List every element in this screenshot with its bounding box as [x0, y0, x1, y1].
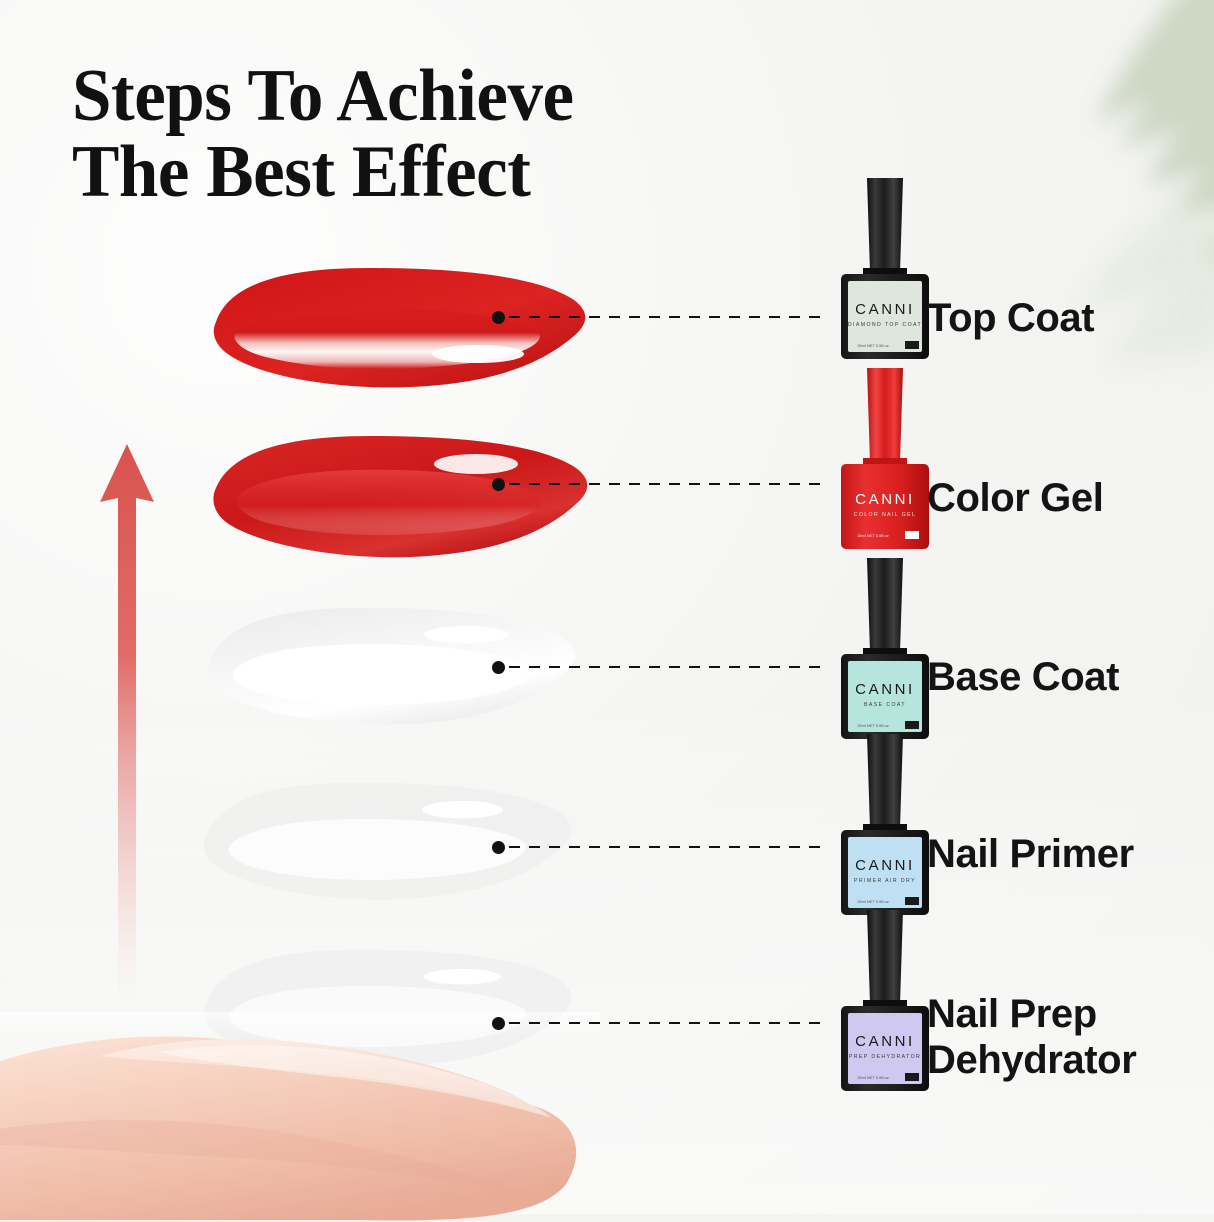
connector-nail-prep-dehydrator — [492, 1016, 822, 1030]
connector-dashed-line — [509, 846, 822, 848]
connector-dashed-line — [509, 483, 822, 485]
connector-dashed-line — [509, 666, 822, 668]
bottle-barcode-icon — [905, 897, 919, 905]
bottle-brand-text: CANNI — [855, 491, 915, 508]
bottle-base-coat[interactable]: CANNI BASE COAT 15ml NET 0.5fl.oz — [833, 556, 937, 741]
page-title: Steps To Achieve The Best Effect — [72, 58, 744, 210]
bottle-product-text: PRIMER AIR DRY — [854, 878, 916, 884]
page-title-line-1: Steps To Achieve — [72, 58, 744, 134]
bottle-product-text: DIAMOND TOP COAT — [848, 322, 922, 328]
bottle-volume-text: 15ml NET 0.5fl.oz — [857, 1075, 889, 1080]
connector-color-gel — [492, 477, 822, 491]
bottle-product-text: PREP DEHYDRATOR — [849, 1054, 921, 1060]
bottle-product-text: COLOR NAIL GEL — [854, 512, 917, 518]
connector-dot — [492, 1017, 505, 1030]
connector-dot — [492, 841, 505, 854]
page-title-line-2: The Best Effect — [72, 134, 744, 210]
bottle-top-coat[interactable]: CANNI DIAMOND TOP COAT 15ml NET 0.5fl.oz — [833, 176, 937, 361]
bottle-brand-text: CANNI — [855, 681, 915, 698]
connector-dot — [492, 311, 505, 324]
bottle-volume-text: 15ml NET 0.5fl.oz — [857, 343, 889, 348]
step-label-color-gel: Color Gel — [927, 476, 1103, 522]
bottle-brand-text: CANNI — [855, 1033, 915, 1050]
connector-nail-primer — [492, 840, 822, 854]
bottle-brand-text: CANNI — [855, 301, 915, 318]
bottle-barcode-icon — [905, 341, 919, 349]
polish-layer-top-coat — [208, 262, 598, 397]
connector-top-coat — [492, 310, 822, 324]
bottle-product-text: BASE COAT — [864, 702, 906, 708]
connector-dot — [492, 478, 505, 491]
bottle-nail-primer[interactable]: CANNI PRIMER AIR DRY 15ml NET 0.5fl.oz — [833, 732, 937, 917]
bottle-barcode-icon — [905, 721, 919, 729]
bottle-brand-text: CANNI — [855, 857, 915, 874]
bottle-barcode-icon — [905, 1073, 919, 1081]
step-label-top-coat: Top Coat — [927, 296, 1094, 342]
step-label-base-coat: Base Coat — [927, 655, 1119, 701]
bottle-color-gel[interactable]: CANNI COLOR NAIL GEL 15ml NET 0.5fl.oz — [833, 366, 937, 551]
bottle-volume-text: 15ml NET 0.5fl.oz — [857, 899, 889, 904]
bottle-barcode-icon — [905, 531, 919, 539]
step-label-nail-prep-dehydrator: Nail Prep Dehydrator — [927, 992, 1136, 1083]
bottle-volume-text: 15ml NET 0.5fl.oz — [857, 533, 889, 538]
connector-dot — [492, 661, 505, 674]
upward-order-arrow-icon — [92, 440, 162, 1000]
bottle-nail-prep-dehydrator[interactable]: CANNI PREP DEHYDRATOR 15ml NET 0.5fl.oz — [833, 908, 937, 1093]
connector-base-coat — [492, 660, 822, 674]
connector-dashed-line — [509, 316, 822, 318]
step-label-nail-primer: Nail Primer — [927, 832, 1134, 878]
polish-layer-color-gel — [208, 432, 598, 567]
connector-dashed-line — [509, 1022, 822, 1024]
bottle-volume-text: 15ml NET 0.5fl.oz — [857, 723, 889, 728]
polish-layer-nail-prep-dehydrator — [196, 940, 586, 1075]
